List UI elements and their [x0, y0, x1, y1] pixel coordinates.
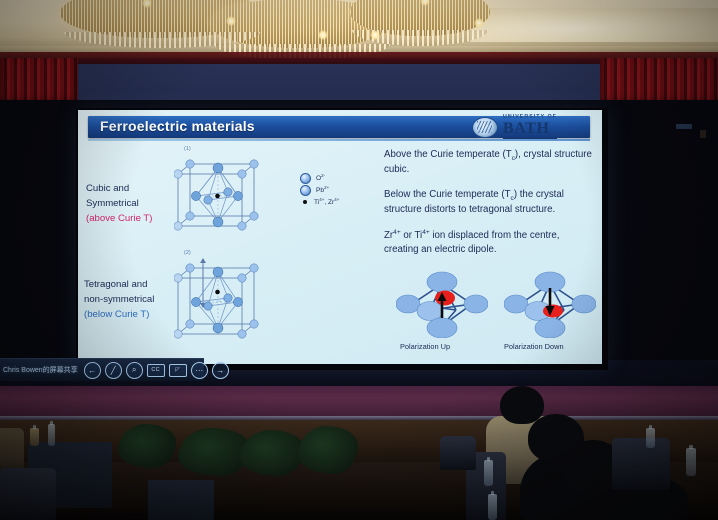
stage-chair	[0, 468, 56, 520]
potted-plant	[298, 426, 358, 474]
para-below-curie: Below the Curie temperate (Tc) the cryst…	[384, 188, 596, 217]
stop-video-icon[interactable]: ◸	[169, 364, 187, 377]
stage-front-wall	[0, 386, 718, 420]
screen-share-label: Chris Bowen的屏幕共享	[0, 365, 78, 375]
polarization-down-diagram	[504, 270, 596, 338]
audience-member-head	[500, 386, 544, 424]
annotate-pencil-icon[interactable]: ╱	[105, 362, 122, 379]
forward-arrow-icon[interactable]: →	[212, 362, 229, 379]
presentation-slide: Ferroelectric materials UNIVERSITY OF BA…	[78, 110, 602, 364]
unit-cell-tetragonal-diagram	[174, 256, 284, 342]
para-above-curie: Above the Curie temperate (Tc), crystal …	[384, 148, 596, 177]
legend-label-oxygen: O2-	[316, 173, 325, 182]
unit-cell-cubic-diagram	[174, 152, 284, 234]
distant-wall-fixture	[700, 130, 706, 138]
back-arrow-icon[interactable]: ←	[84, 362, 101, 379]
titanium-zirconium-ion-dot-icon	[303, 200, 307, 204]
auditorium-chair	[440, 436, 476, 470]
water-bottle	[686, 448, 696, 476]
screen-share-toolbar[interactable]: Chris Bowen的屏幕共享 ← ╱ ⌕ CC ◸ ··· →	[0, 358, 204, 381]
ion-legend: O2- Pb2+ Ti4+, Zr4+	[300, 172, 339, 208]
bath-crest-icon	[472, 117, 498, 138]
closed-caption-icon[interactable]: CC	[147, 364, 165, 377]
polarization-down-caption: Polarization Down	[504, 342, 564, 351]
auditorium-chair	[612, 438, 670, 490]
slide-title: Ferroelectric materials	[100, 118, 255, 134]
water-bottle	[488, 494, 497, 520]
equipment-case	[148, 480, 214, 520]
legend-label-ti-zr: Ti4+, Zr4+	[314, 197, 339, 206]
more-options-icon[interactable]: ···	[191, 362, 208, 379]
potted-plant	[118, 424, 176, 468]
polarization-up-caption: Polarization Up	[400, 342, 450, 351]
legend-item-ti-zr: Ti4+, Zr4+	[300, 196, 339, 208]
polarization-up-diagram	[396, 270, 488, 338]
legend-item-oxygen: O2-	[300, 172, 339, 184]
potted-plant	[178, 428, 250, 476]
oxygen-ion-sphere-icon	[300, 173, 311, 184]
logo-main-text: BATH	[503, 121, 557, 139]
legend-label-lead: Pb2+	[316, 185, 329, 194]
para-dipole: Zr4+ or Ti4+ ion displaced from the cent…	[384, 228, 596, 257]
water-bottle	[48, 424, 55, 446]
projection-screen: Ferroelectric materials UNIVERSITY OF BA…	[76, 108, 608, 370]
water-bottle	[646, 428, 655, 448]
toolbar-button-group: ← ╱ ⌕ CC ◸ ··· →	[78, 362, 229, 379]
distant-screen-ui	[676, 124, 692, 129]
ceiling-cove-light	[470, 8, 718, 42]
cup	[30, 428, 39, 446]
conference-room-photo: Ferroelectric materials UNIVERSITY OF BA…	[0, 0, 718, 520]
university-logo: UNIVERSITY OF BATH	[472, 114, 596, 140]
water-bottle	[484, 460, 493, 486]
legend-item-lead: Pb2+	[300, 184, 339, 196]
potted-plant	[240, 430, 304, 476]
lead-ion-sphere-icon	[300, 185, 311, 196]
zoom-magnifier-icon[interactable]: ⌕	[126, 362, 143, 379]
slide-body-text: Above the Curie temperate (Tc), crystal …	[384, 148, 596, 268]
